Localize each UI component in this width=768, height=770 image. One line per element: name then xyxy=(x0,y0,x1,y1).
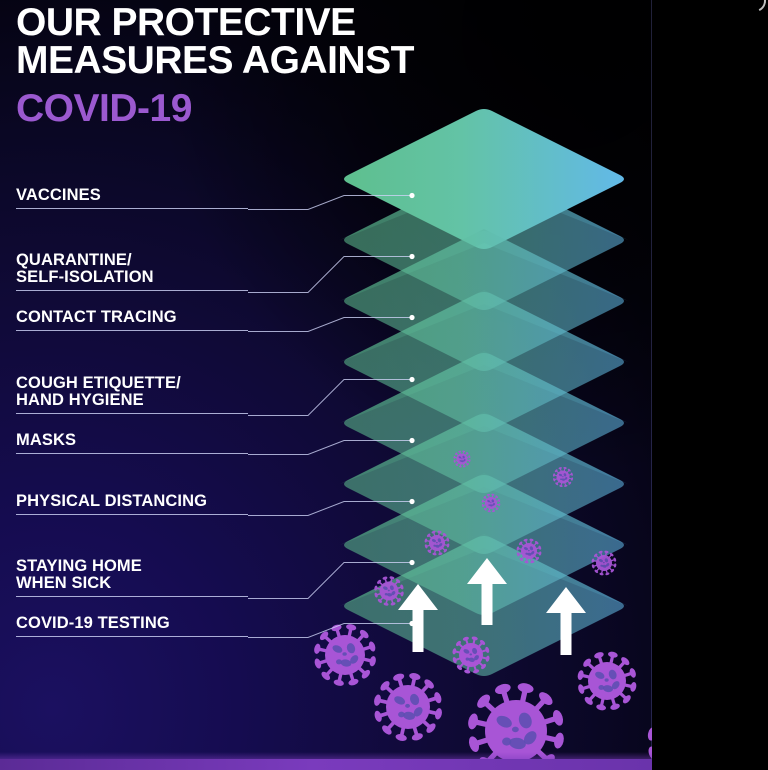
measure-label-7[interactable]: STAYING HOME WHEN SICK xyxy=(16,558,248,597)
measure-label-underline xyxy=(16,636,248,637)
measure-label-6[interactable]: PHYSICAL DISTANCING xyxy=(16,493,248,515)
measure-label-underline xyxy=(16,596,248,597)
measure-label-text: VACCINES xyxy=(16,187,248,204)
measure-label-3[interactable]: CONTACT TRACING xyxy=(16,309,248,331)
measure-label-text: PHYSICAL DISTANCING xyxy=(16,493,248,510)
measure-label-text: COVID-19 TESTING xyxy=(16,615,248,632)
measure-label-underline xyxy=(16,453,248,454)
measure-label-text: MASKS xyxy=(16,432,248,449)
infographic-poster: VACCINESQUARANTINE/ SELF-ISOLATIONCONTAC… xyxy=(0,0,768,770)
measure-label-underline xyxy=(16,208,248,209)
measure-label-underline xyxy=(16,514,248,515)
artwork-region: VACCINESQUARANTINE/ SELF-ISOLATIONCONTAC… xyxy=(0,0,652,770)
measure-label-underline xyxy=(16,290,248,291)
measure-label-4[interactable]: COUGH ETIQUETTE/ HAND HYGIENE xyxy=(16,375,248,414)
measure-label-1[interactable]: VACCINES xyxy=(16,187,248,209)
page-title: OUR PROTECTIVE MEASURES AGAINST COVID-19 xyxy=(16,4,414,129)
title-line-2: MEASURES AGAINST xyxy=(16,42,414,80)
measure-label-5[interactable]: MASKS xyxy=(16,432,248,454)
measure-label-text: CONTACT TRACING xyxy=(16,309,248,326)
corner-arc-icon xyxy=(741,0,768,15)
title-covid-accent: COVID-19 xyxy=(16,89,414,129)
measure-label-underline xyxy=(16,330,248,331)
bottom-bar-glow xyxy=(0,752,652,759)
measure-label-text: QUARANTINE/ SELF-ISOLATION xyxy=(16,252,248,286)
measure-label-text: COUGH ETIQUETTE/ HAND HYGIENE xyxy=(16,375,248,409)
black-padding-region xyxy=(652,0,768,770)
bottom-accent-bar xyxy=(0,759,652,770)
measure-label-underline xyxy=(16,413,248,414)
title-line-1: OUR PROTECTIVE xyxy=(16,4,414,42)
measure-label-text: STAYING HOME WHEN SICK xyxy=(16,558,248,592)
measure-label-2[interactable]: QUARANTINE/ SELF-ISOLATION xyxy=(16,252,248,291)
measure-label-8[interactable]: COVID-19 TESTING xyxy=(16,615,248,637)
